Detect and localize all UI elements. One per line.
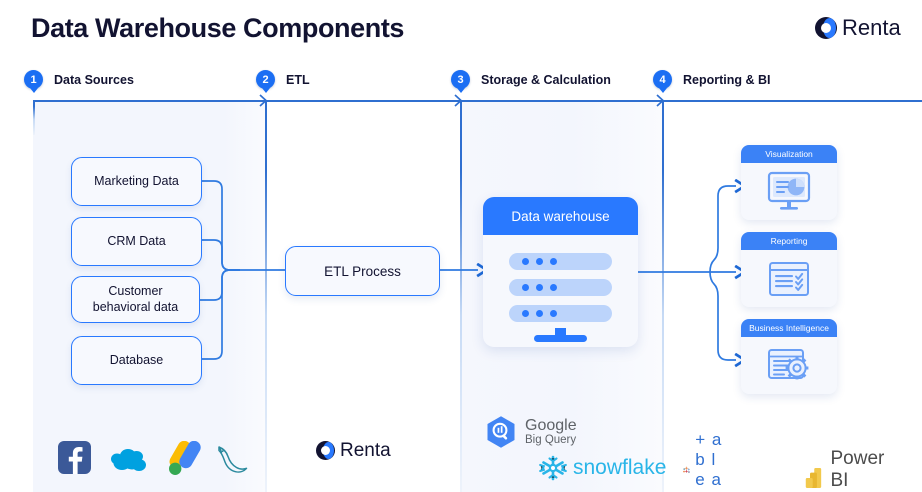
source-box-label: Marketing Data [94,174,179,190]
bigquery-label-bottom: Big Query [525,434,577,446]
bigquery-label-top: Google [525,418,577,435]
timeline-chevron-4 [656,94,666,106]
column-divider-2 [265,100,267,492]
document-gear-icon [741,337,837,394]
step-marker-4[interactable]: 4 [653,70,672,89]
source-box-customer-behavioral-data[interactable]: Customer behavioral data [71,276,200,323]
snowflake-logo-icon: snowflake [538,453,666,483]
step-marker-1[interactable]: 1 [24,70,43,89]
timeline-axis [33,100,922,102]
output-card-business-intelligence[interactable]: Business Intelligence [741,319,837,394]
etl-process-box[interactable]: ETL Process [285,246,440,296]
timeline-chevron-3 [454,94,464,106]
power-bi-logo-icon: Power BI [805,448,890,492]
step-label-3: Storage & Calculation [481,73,611,87]
renta-logo-etl: Renta [316,441,391,460]
renta-logo-icon [815,17,837,39]
power-bi-label: Power BI [830,448,889,492]
chart-monitor-icon [741,163,837,220]
tableau-logo-icon: + a b l e a u [682,430,727,492]
column-divider-4 [662,100,664,492]
renta-logo-text: Renta [340,441,391,460]
snowflake-label: snowflake [573,456,666,480]
source-box-label: CRM Data [107,234,165,250]
source-box-crm-data[interactable]: CRM Data [71,217,202,266]
step-label-2: ETL [286,73,310,87]
output-card-title: Visualization [741,145,837,163]
step-marker-2[interactable]: 2 [256,70,275,89]
source-box-database[interactable]: Database [71,336,202,385]
google-bigquery-logo-icon: Google Big Query [484,415,577,449]
data-warehouse-title: Data warehouse [483,197,638,235]
google-ads-logo-icon [164,441,206,482]
server-rack-row [509,253,612,270]
diagram-canvas: Data Warehouse Components Renta 1 Data S… [0,0,922,492]
data-warehouse-card[interactable]: Data warehouse [483,197,638,347]
server-rack-row [509,279,612,296]
step-label-1: Data Sources [54,73,134,87]
renta-logo-text: Renta [842,17,901,39]
output-card-title: Business Intelligence [741,319,837,337]
salesforce-logo-icon [108,446,148,479]
server-base [534,335,587,342]
server-rack-row [509,305,612,322]
source-logos-row [58,438,258,482]
column-divider-3 [460,100,462,492]
etl-process-label: ETL Process [324,264,401,279]
renta-logo-icon [316,441,335,460]
renta-logo-header: Renta [815,17,901,39]
data-warehouse-illustration [483,235,638,347]
page-title: Data Warehouse Components [31,13,404,44]
column-divider-1 [33,100,35,135]
output-card-title: Reporting [741,232,837,250]
facebook-logo-icon [58,441,91,479]
step-marker-3[interactable]: 3 [451,70,470,89]
source-box-marketing-data[interactable]: Marketing Data [71,157,202,206]
timeline-chevron-2 [259,94,269,106]
output-card-visualization[interactable]: Visualization [741,145,837,220]
source-box-label: Database [110,353,164,369]
tableau-label: + a b l e a u [695,430,727,492]
checklist-document-icon [741,250,837,307]
step-label-4: Reporting & BI [683,73,771,87]
source-box-label: Customer behavioral data [84,284,187,315]
mysql-logo-icon [215,444,251,481]
output-card-reporting[interactable]: Reporting [741,232,837,307]
